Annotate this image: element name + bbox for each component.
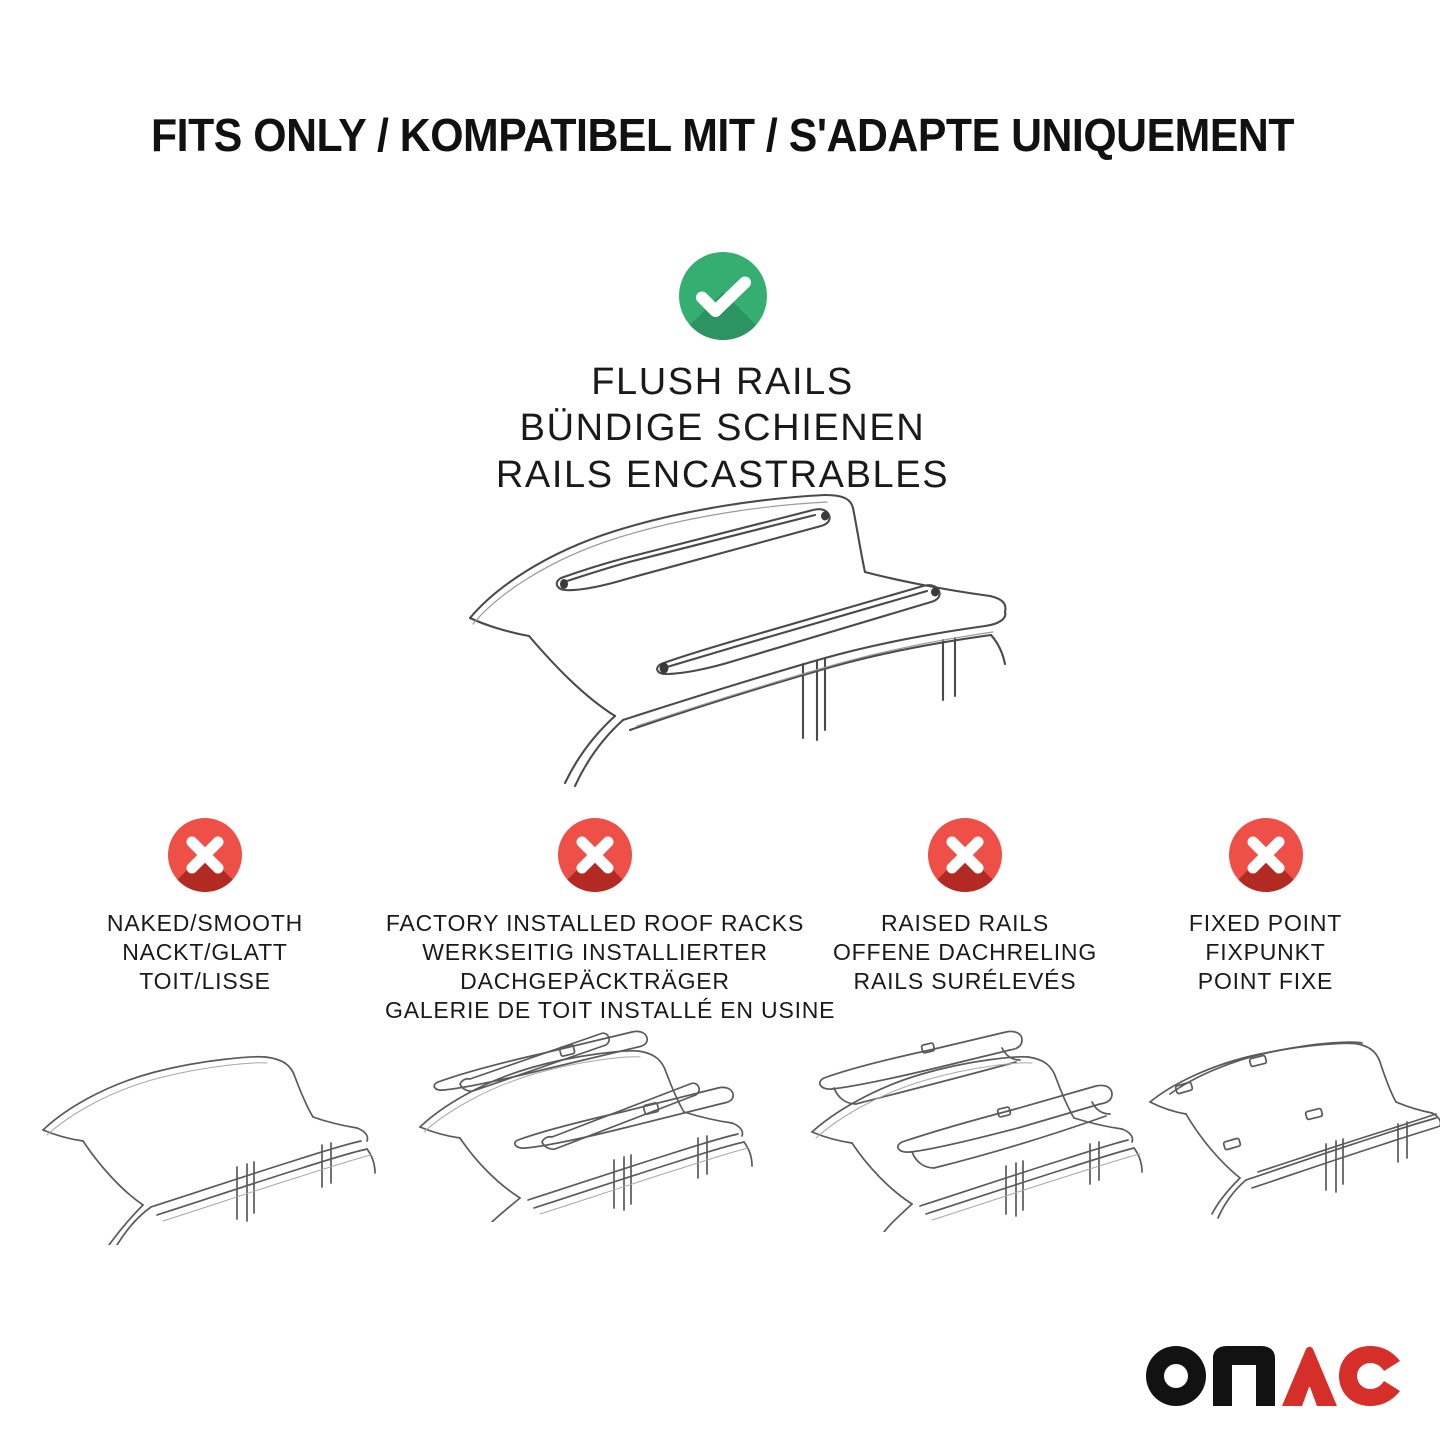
car-roof-naked-illustration	[25, 1035, 385, 1245]
page-title: FITS ONLY / KOMPATIBEL MIT / S'ADAPTE UN…	[151, 108, 1294, 162]
compatible-section: FLUSH RAILS BÜNDIGE SCHIENEN RAILS ENCAS…	[0, 252, 1445, 498]
label-en: RAISED RAILS	[805, 909, 1125, 938]
label-de: FIXPUNKT	[1128, 938, 1403, 967]
car-roof-with-flush-rails-illustration	[425, 468, 1045, 788]
logo-letter-c	[1339, 1346, 1400, 1406]
label-en: NAKED/SMOOTH	[30, 909, 380, 938]
label-fr: POINT FIXE	[1128, 967, 1403, 996]
compatible-label-en: FLUSH RAILS	[0, 359, 1445, 405]
x-icon	[168, 818, 242, 892]
logo-letter-o	[1146, 1346, 1206, 1406]
incompatible-captions: RAISED RAILS OFFENE DACHRELING RAILS SUR…	[805, 909, 1125, 996]
incompatible-captions: FIXED POINT FIXPUNKT POINT FIXE	[1128, 909, 1403, 996]
omac-logo	[1143, 1345, 1403, 1407]
x-icon	[558, 818, 632, 892]
label-de-1: WERKSEITIG INSTALLIERTER	[385, 938, 805, 967]
label-de-2: DACHGEPÄCKTRÄGER	[385, 967, 805, 996]
logo-letter-a	[1282, 1347, 1337, 1406]
check-icon	[679, 252, 767, 340]
header: FITS ONLY / KOMPATIBEL MIT / S'ADAPTE UN…	[0, 108, 1445, 162]
x-icon	[928, 818, 1002, 892]
car-roof-with-raised-rails-illustration	[790, 1022, 1165, 1232]
label-fr: TOIT/LISSE	[30, 967, 380, 996]
label-de: NACKT/GLATT	[30, 938, 380, 967]
label-en: FACTORY INSTALLED ROOF RACKS	[385, 909, 805, 938]
label-en: FIXED POINT	[1128, 909, 1403, 938]
x-icon	[1229, 818, 1303, 892]
compatible-label-de: BÜNDIGE SCHIENEN	[0, 405, 1445, 451]
incompatible-captions: FACTORY INSTALLED ROOF RACKS WERKSEITIG …	[385, 909, 805, 1025]
logo-letter-m	[1213, 1346, 1275, 1406]
incompatible-item-raised-rails: RAISED RAILS OFFENE DACHRELING RAILS SUR…	[805, 818, 1125, 996]
car-roof-with-fixed-points-illustration	[1140, 1032, 1440, 1242]
label-de: OFFENE DACHRELING	[805, 938, 1125, 967]
incompatible-item-factory-installed-roof-racks: FACTORY INSTALLED ROOF RACKS WERKSEITIG …	[385, 818, 805, 1025]
incompatible-item-fixed-point: FIXED POINT FIXPUNKT POINT FIXE	[1128, 818, 1403, 996]
label-fr: RAILS SURÉLEVÉS	[805, 967, 1125, 996]
car-roof-with-factory-crossbars-illustration	[400, 1012, 780, 1222]
incompatible-captions: NAKED/SMOOTH NACKT/GLATT TOIT/LISSE	[30, 909, 380, 996]
incompatible-item-naked-smooth: NAKED/SMOOTH NACKT/GLATT TOIT/LISSE	[30, 818, 380, 996]
